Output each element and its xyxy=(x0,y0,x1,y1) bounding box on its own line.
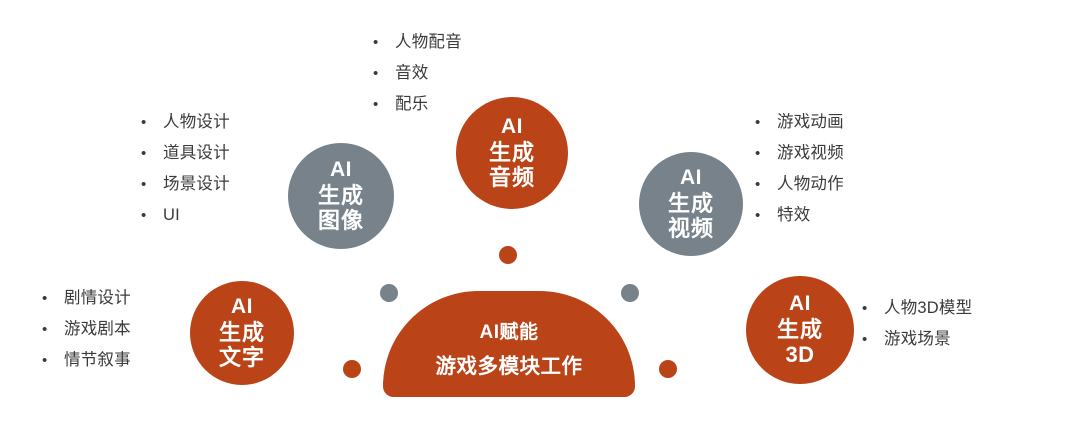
list-item: • 人物动作 xyxy=(755,169,844,200)
image-item-2: 场景设计 xyxy=(163,169,230,200)
bullet-icon: • xyxy=(42,314,64,345)
list-item: • 人物3D模型 xyxy=(862,293,972,324)
dot-bottom-left xyxy=(343,360,361,378)
bullet-icon: • xyxy=(42,283,64,314)
diagram-canvas: • 人物配音 • 音效 • 配乐 • 人物设计 • 道具设计 • 场景设计 • … xyxy=(0,0,1072,431)
video-item-1: 游戏视频 xyxy=(777,138,844,169)
center-hub[interactable]: AI赋能 游戏多模块工作 xyxy=(383,291,635,397)
node-ai-image[interactable]: AI 生成 图像 xyxy=(288,143,394,249)
node-ai-video[interactable]: AI 生成 视频 xyxy=(639,152,743,256)
node-ai-3d-label-line2: 生成 xyxy=(777,317,823,343)
dot-top-center xyxy=(499,246,517,264)
node-ai-image-label-line2: 生成 xyxy=(318,183,364,209)
node-ai-3d-label-line3: 3D xyxy=(785,342,814,368)
list-item: • 游戏视频 xyxy=(755,138,844,169)
video-bullet-list: • 游戏动画 • 游戏视频 • 人物动作 • 特效 xyxy=(755,107,844,231)
list-item: • 场景设计 xyxy=(141,169,230,200)
image-bullet-list: • 人物设计 • 道具设计 • 场景设计 • UI xyxy=(141,107,230,231)
audio-item-1: 音效 xyxy=(395,58,428,89)
node-ai-audio-label-ai: AI xyxy=(501,115,523,139)
bullet-icon: • xyxy=(373,89,395,120)
threed-bullet-list: • 人物3D模型 • 游戏场景 xyxy=(862,293,972,355)
node-ai-text[interactable]: AI 生成 文字 xyxy=(190,281,294,385)
node-ai-audio[interactable]: AI 生成 音频 xyxy=(456,97,568,209)
center-hub-line1: AI赋能 xyxy=(479,317,538,344)
list-item: • 人物配音 xyxy=(373,27,462,58)
threed-item-0: 人物3D模型 xyxy=(884,293,972,324)
image-item-0: 人物设计 xyxy=(163,107,230,138)
threed-item-1: 游戏场景 xyxy=(884,324,951,355)
bullet-icon: • xyxy=(862,293,884,324)
text-bullet-list: • 剧情设计 • 游戏剧本 • 情节叙事 xyxy=(42,283,131,376)
text-item-0: 剧情设计 xyxy=(64,283,131,314)
node-ai-text-label-line3: 文字 xyxy=(219,345,265,371)
list-item: • 配乐 xyxy=(373,89,462,120)
list-item: • 剧情设计 xyxy=(42,283,131,314)
bullet-icon: • xyxy=(141,138,163,169)
bullet-icon: • xyxy=(755,107,777,138)
node-ai-audio-label-line3: 音频 xyxy=(489,165,535,191)
video-item-0: 游戏动画 xyxy=(777,107,844,138)
list-item: • 特效 xyxy=(755,200,844,231)
bullet-icon: • xyxy=(141,200,163,231)
node-ai-video-label-ai: AI xyxy=(680,166,702,190)
bullet-icon: • xyxy=(141,169,163,200)
audio-item-2: 配乐 xyxy=(395,89,428,120)
center-hub-line2: 游戏多模块工作 xyxy=(436,349,583,379)
dot-mid-left xyxy=(380,284,398,302)
text-item-1: 游戏剧本 xyxy=(64,314,131,345)
node-ai-video-label-line3: 视频 xyxy=(668,216,714,242)
list-item: • 道具设计 xyxy=(141,138,230,169)
node-ai-image-label-line3: 图像 xyxy=(318,208,364,234)
node-ai-3d-label-ai: AI xyxy=(789,292,811,316)
dot-mid-right xyxy=(621,284,639,302)
bullet-icon: • xyxy=(862,324,884,355)
bullet-icon: • xyxy=(373,58,395,89)
list-item: • 游戏场景 xyxy=(862,324,972,355)
audio-item-0: 人物配音 xyxy=(395,27,462,58)
bullet-icon: • xyxy=(42,345,64,376)
video-item-3: 特效 xyxy=(777,200,810,231)
bullet-icon: • xyxy=(755,138,777,169)
node-ai-image-label-ai: AI xyxy=(330,158,352,182)
node-ai-video-label-line2: 生成 xyxy=(668,191,714,217)
node-ai-3d[interactable]: AI 生成 3D xyxy=(746,276,854,384)
image-item-1: 道具设计 xyxy=(163,138,230,169)
list-item: • 人物设计 xyxy=(141,107,230,138)
node-ai-text-label-line2: 生成 xyxy=(219,320,265,346)
bullet-icon: • xyxy=(755,169,777,200)
bullet-icon: • xyxy=(755,200,777,231)
list-item: • 游戏剧本 xyxy=(42,314,131,345)
audio-bullet-list: • 人物配音 • 音效 • 配乐 xyxy=(373,27,462,120)
video-item-2: 人物动作 xyxy=(777,169,844,200)
list-item: • 情节叙事 xyxy=(42,345,131,376)
text-item-2: 情节叙事 xyxy=(64,345,131,376)
list-item: • 音效 xyxy=(373,58,462,89)
node-ai-audio-label-line2: 生成 xyxy=(489,140,535,166)
list-item: • UI xyxy=(141,200,230,231)
list-item: • 游戏动画 xyxy=(755,107,844,138)
bullet-icon: • xyxy=(141,107,163,138)
image-item-3: UI xyxy=(163,200,180,231)
node-ai-text-label-ai: AI xyxy=(231,295,253,319)
bullet-icon: • xyxy=(373,27,395,58)
dot-bottom-right xyxy=(659,360,677,378)
